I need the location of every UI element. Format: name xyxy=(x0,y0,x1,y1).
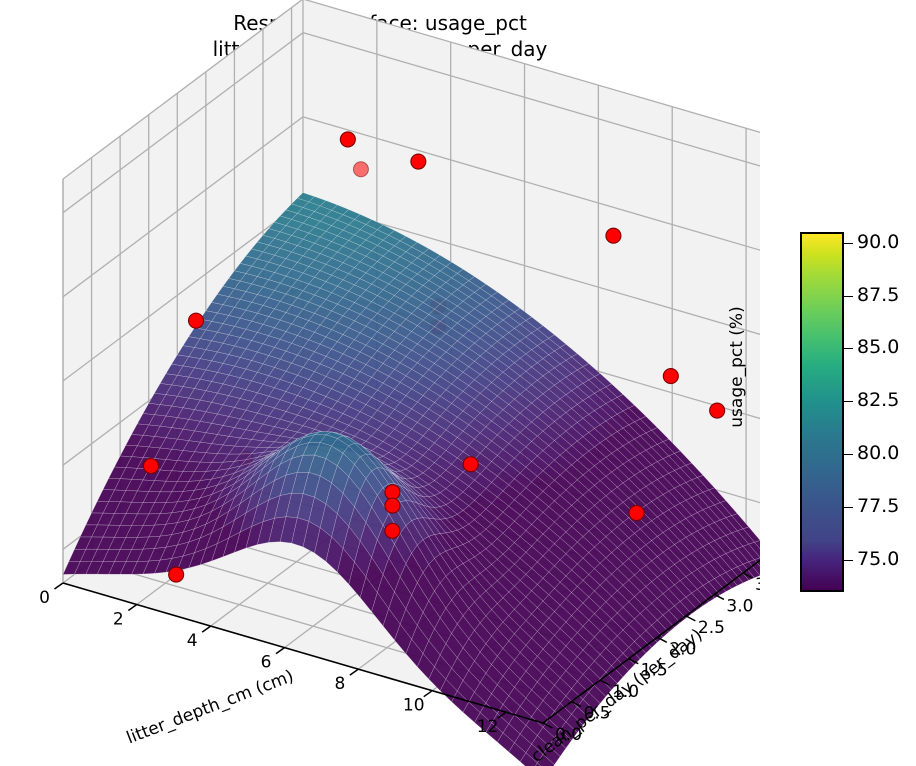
scatter-point xyxy=(463,457,478,472)
colorbar-tick-mark xyxy=(844,507,853,508)
colorbar-tick-label: 85.0 xyxy=(857,338,899,357)
x-tick-label: 10 xyxy=(403,696,425,716)
colorbar-gradient xyxy=(800,232,844,592)
x-tick-label: 6 xyxy=(261,653,272,673)
scatter-point xyxy=(385,485,400,500)
y-tick-label: 3.0 xyxy=(726,596,753,616)
scatter-point xyxy=(340,132,355,147)
y-tick-label: 3.5 xyxy=(755,575,760,595)
colorbar-tick-label: 80.0 xyxy=(857,444,899,463)
x-tick-label: 4 xyxy=(187,631,198,651)
y-tick-mark xyxy=(686,616,696,621)
scatter-point xyxy=(385,498,400,513)
scatter-point xyxy=(385,523,400,538)
x-tick-label: 2 xyxy=(113,610,124,630)
colorbar-tick-label: 75.0 xyxy=(857,550,899,569)
colorbar-tick-mark xyxy=(844,401,853,402)
colorbar-tick-label: 90.0 xyxy=(857,233,899,252)
x-tick-mark xyxy=(55,583,64,589)
colorbar-tick-mark xyxy=(844,348,853,349)
colorbar-tick-mark xyxy=(844,560,853,561)
scatter-point xyxy=(606,228,621,243)
figure-canvas: Response Surface: usage_pct litter_depth… xyxy=(0,0,916,766)
surface-3d-plot: 0246810120.00.51.01.52.02.53.03.54.07075… xyxy=(0,0,760,766)
scatter-point xyxy=(411,154,426,169)
colorbar-tick-mark xyxy=(844,296,853,297)
colorbar-tick-mark xyxy=(844,454,853,455)
scatter-point xyxy=(189,313,204,328)
x-tick-label: 8 xyxy=(334,674,345,694)
scatter-point xyxy=(169,567,184,582)
scatter-point xyxy=(144,459,159,474)
scatter-point xyxy=(663,369,678,384)
x-tick-mark xyxy=(276,648,285,654)
x-tick-mark xyxy=(202,626,211,632)
x-tick-mark xyxy=(128,605,137,611)
x-tick-mark xyxy=(350,669,359,675)
colorbar-tick-label: 77.5 xyxy=(857,497,899,516)
x-tick-label: 12 xyxy=(477,717,499,737)
colorbar-tick-mark xyxy=(844,243,853,244)
scatter-point xyxy=(629,505,644,520)
y-tick-label: 2.5 xyxy=(698,618,725,638)
x-tick-mark xyxy=(424,691,433,697)
scatter-point-behind xyxy=(353,162,368,177)
z-axis-label: usage_pct (%) xyxy=(727,306,747,427)
colorbar-ticks: 75.077.580.082.585.087.590.0 xyxy=(844,220,916,610)
colorbar-tick-label: 82.5 xyxy=(857,391,899,410)
x-axis-label: litter_depth_cm (cm) xyxy=(124,666,297,748)
scatter-point xyxy=(710,403,725,418)
x-tick-label: 0 xyxy=(39,588,50,608)
colorbar-tick-label: 87.5 xyxy=(857,286,899,305)
